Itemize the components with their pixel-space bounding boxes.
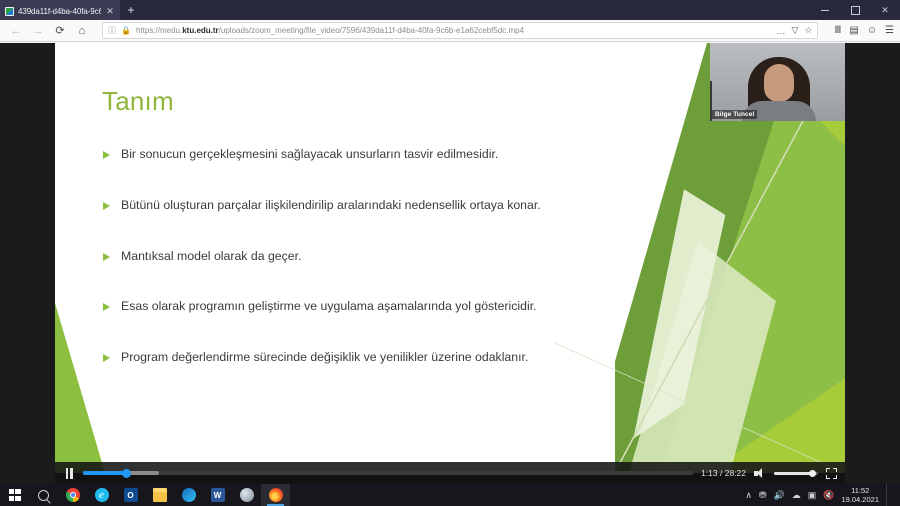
firefox-icon — [269, 488, 283, 502]
volume-icon[interactable] — [754, 467, 766, 479]
volume-fill — [774, 472, 813, 475]
clock-time: 11:52 — [851, 486, 869, 495]
taskbar-outlook[interactable]: O — [116, 484, 145, 506]
forward-icon[interactable]: → — [28, 22, 48, 40]
start-button[interactable] — [0, 484, 29, 506]
library-icon[interactable]: Ⅲ — [834, 25, 841, 36]
video-player[interactable]: Tanım Bir sonucun gerçekleşmesini sağlay… — [55, 43, 845, 484]
bullet-arrow-icon — [103, 303, 110, 311]
bullet-text: Esas olarak programın geliştirme ve uygu… — [121, 299, 537, 314]
lock-icon: 🔒 — [121, 26, 131, 35]
urlbar-actions: … ▽ ☆ — [770, 25, 812, 36]
account-icon[interactable]: ☺ — [867, 25, 877, 36]
taskbar-firefox[interactable] — [261, 484, 290, 506]
bullet-text: Bütünü oluşturan parçalar ilişkilendiril… — [121, 198, 541, 213]
webcam-overlay: Bilge Tuncel — [710, 43, 845, 121]
system-tray: ∧ ⛃ 🔊 ☁ ▣ 🔇 11:52 19.04.2021 — [745, 484, 900, 506]
browser-tab[interactable]: 439da11f-d4ba-40fa-9c6b-e1a6… ✕ — [0, 0, 120, 20]
list-item: Bir sonucun gerçekleşmesini sağlayacak u… — [103, 147, 703, 162]
clock-date: 19.04.2021 — [841, 495, 879, 504]
page-actions-icon[interactable]: … — [776, 26, 785, 36]
taskbar-edge[interactable] — [174, 484, 203, 506]
bullet-text: Bir sonucun gerçekleşmesini sağlayacak u… — [121, 147, 498, 162]
tray-usb-icon[interactable]: ⛃ — [759, 491, 767, 500]
home-icon[interactable]: ⌂ — [72, 22, 92, 40]
slide-title: Tanım — [102, 86, 174, 117]
bullet-text: Mantıksal model olarak da geçer. — [121, 249, 301, 264]
list-item: Bütünü oluşturan parçalar ilişkilendiril… — [103, 198, 703, 213]
pocket-icon[interactable]: ▽ — [791, 25, 798, 36]
pause-icon[interactable] — [63, 466, 75, 480]
window-controls: ✕ — [810, 0, 900, 20]
taskbar-word[interactable]: W — [203, 484, 232, 506]
bullet-arrow-icon — [103, 253, 110, 261]
tray-sound-alert-icon[interactable]: 🔊 — [774, 491, 785, 500]
taskbar-chrome[interactable] — [58, 484, 87, 506]
video-controls: 1:13 / 28:22 — [55, 462, 845, 484]
new-tab-button[interactable]: + — [120, 0, 142, 20]
site-identity-icon[interactable]: ⓘ — [108, 27, 116, 35]
edge-icon — [182, 488, 196, 502]
internet-explorer-icon: e — [95, 488, 109, 502]
close-window-button[interactable]: ✕ — [870, 0, 900, 20]
volume-handle[interactable] — [809, 470, 816, 477]
video-page: Tanım Bir sonucun gerçekleşmesini sağlay… — [0, 43, 900, 484]
word-icon: W — [211, 488, 225, 502]
participant-name-label: Bilge Tuncel — [712, 110, 757, 119]
tray-network-icon[interactable]: ☁ — [792, 491, 801, 500]
tab-strip: 439da11f-d4ba-40fa-9c6b-e1a6… ✕ + ✕ — [0, 0, 900, 20]
address-bar[interactable]: ⓘ 🔒 https://medu.ktu.edu.tr/uploads/zoom… — [102, 22, 818, 39]
outlook-icon: O — [124, 488, 138, 502]
taskbar-file-explorer[interactable] — [145, 484, 174, 506]
reload-icon[interactable]: ⟳ — [50, 22, 70, 40]
tray-display-icon[interactable]: ▣ — [808, 491, 817, 500]
seek-handle[interactable] — [122, 469, 131, 478]
taskbar-internet-explorer[interactable]: e — [87, 484, 116, 506]
tray-chevron-up-icon[interactable]: ∧ — [745, 491, 752, 500]
taskbar-app[interactable] — [232, 484, 261, 506]
search-button[interactable] — [29, 484, 58, 506]
screen: 439da11f-d4ba-40fa-9c6b-e1a6… ✕ + ✕ ← → … — [0, 0, 900, 506]
windows-logo-icon — [9, 489, 21, 501]
bullet-arrow-icon — [103, 151, 110, 159]
tab-title: 439da11f-d4ba-40fa-9c6b-e1a6… — [18, 7, 101, 16]
seek-bar[interactable] — [83, 471, 693, 475]
close-tab-icon[interactable]: ✕ — [105, 7, 115, 16]
bullet-text: Program değerlendirme sürecinde değişikl… — [121, 350, 528, 365]
maximize-button[interactable] — [840, 0, 870, 20]
bullet-arrow-icon — [103, 202, 110, 210]
toolbar-right: Ⅲ ▤ ☺ ☰ — [826, 25, 894, 36]
chrome-icon — [66, 488, 80, 502]
face-shape — [764, 64, 794, 102]
back-icon[interactable]: ← — [6, 22, 26, 40]
deco-corner-wedge — [55, 303, 105, 473]
sidebar-icon[interactable]: ▤ — [849, 25, 858, 36]
bullet-arrow-icon — [103, 354, 110, 362]
url-text: https://medu.ktu.edu.tr/uploads/zoom_mee… — [136, 26, 524, 35]
taskbar-clock[interactable]: 11:52 19.04.2021 — [841, 486, 879, 505]
list-item: Mantıksal model olarak da geçer. — [103, 249, 703, 264]
seek-progress — [83, 471, 127, 475]
windows-taskbar: e O W ∧ ⛃ 🔊 ☁ ▣ — [0, 484, 900, 506]
list-item: Program değerlendirme sürecinde değişikl… — [103, 350, 703, 365]
search-icon — [38, 490, 49, 501]
video-file-favicon — [5, 7, 14, 16]
file-explorer-icon — [153, 488, 167, 502]
navigation-toolbar: ← → ⟳ ⌂ ⓘ 🔒 https://medu.ktu.edu.tr/uplo… — [0, 20, 900, 42]
firefox-window: 439da11f-d4ba-40fa-9c6b-e1a6… ✕ + ✕ ← → … — [0, 0, 900, 484]
tray-volume-icon[interactable]: 🔇 — [823, 491, 834, 500]
app-icon — [240, 488, 254, 502]
show-desktop-button[interactable] — [886, 484, 894, 506]
time-display: 1:13 / 28:22 — [701, 468, 746, 478]
volume-slider[interactable] — [774, 472, 818, 475]
minimize-button[interactable] — [810, 0, 840, 20]
bookmark-star-icon[interactable]: ☆ — [804, 25, 812, 36]
fullscreen-icon[interactable] — [826, 468, 837, 479]
slide-bullet-list: Bir sonucun gerçekleşmesini sağlayacak u… — [103, 147, 703, 401]
taskbar-items: e O W — [0, 484, 290, 506]
app-menu-icon[interactable]: ☰ — [885, 25, 894, 36]
list-item: Esas olarak programın geliştirme ve uygu… — [103, 299, 703, 314]
